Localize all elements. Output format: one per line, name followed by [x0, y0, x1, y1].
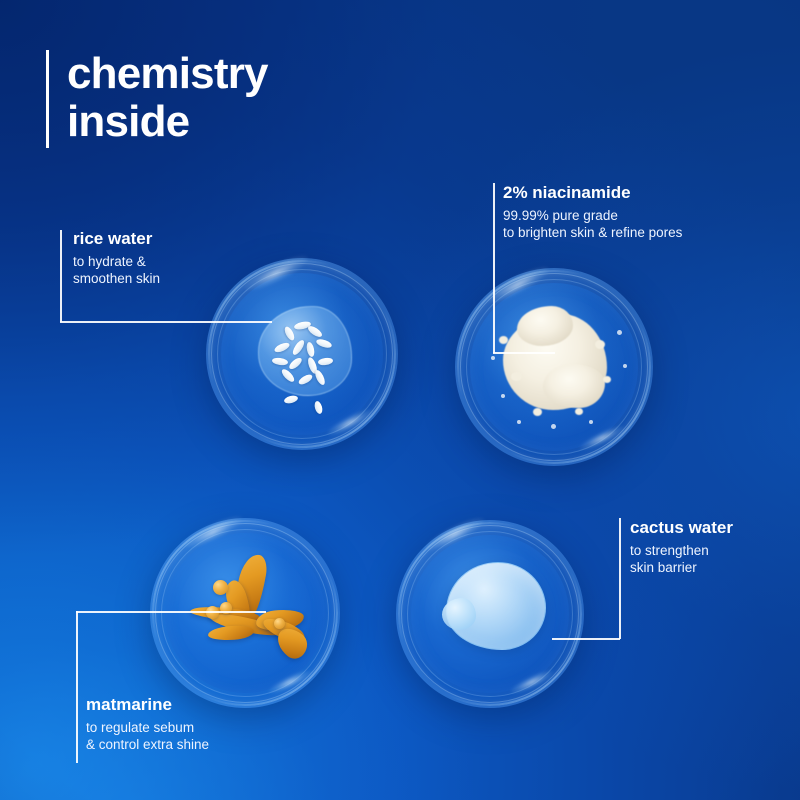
leader-line-niacinamide-horizontal	[493, 352, 555, 354]
leader-line-cactus-water-vertical	[619, 518, 621, 639]
callout-sub-line-1-matmarine: to regulate sebum	[86, 719, 209, 736]
callout-sub-line-2-cactus-water: skin barrier	[630, 559, 733, 576]
page-title-line-2: inside	[67, 98, 268, 146]
callout-heading-rice-water: rice water	[73, 228, 160, 250]
leader-line-matmarine-horizontal	[76, 611, 266, 613]
page-title: chemistry inside	[46, 50, 268, 148]
callout-matmarine: matmarine to regulate sebum & control ex…	[86, 694, 209, 753]
dish-rim-highlight	[152, 520, 338, 706]
callout-heading-cactus-water: cactus water	[630, 517, 733, 539]
petri-dish-rice-water	[206, 258, 398, 450]
page-title-line-1: chemistry	[67, 50, 268, 98]
callout-heading-niacinamide: 2% niacinamide	[503, 182, 682, 204]
callout-heading-matmarine: matmarine	[86, 694, 209, 716]
callout-cactus-water: cactus water to strengthen skin barrier	[630, 517, 733, 576]
infographic-canvas: chemistry inside	[0, 0, 800, 800]
petri-dish-matmarine	[150, 518, 340, 708]
callout-sub-line-1-niacinamide: 99.99% pure grade	[503, 207, 682, 224]
callout-sub-line-1-cactus-water: to strengthen	[630, 542, 733, 559]
leader-line-rice-water-horizontal	[60, 321, 272, 323]
leader-line-niacinamide-vertical	[493, 183, 495, 353]
leader-line-cactus-water-horizontal	[552, 638, 620, 640]
leader-line-rice-water-riser	[60, 230, 62, 322]
callout-sub-line-2-niacinamide: to brighten skin & refine pores	[503, 224, 682, 241]
callout-sub-line-2-rice-water: smoothen skin	[73, 270, 160, 287]
petri-dish-niacinamide	[455, 268, 653, 466]
callout-sub-line-1-rice-water: to hydrate &	[73, 253, 160, 270]
dish-rim-highlight	[208, 260, 396, 448]
callout-sub-line-2-matmarine: & control extra shine	[86, 736, 209, 753]
leader-line-matmarine-vertical	[76, 611, 78, 763]
callout-rice-water: rice water to hydrate & smoothen skin	[73, 228, 160, 287]
callout-niacinamide: 2% niacinamide 99.99% pure grade to brig…	[503, 182, 682, 241]
petri-dish-cactus-water	[396, 520, 584, 708]
